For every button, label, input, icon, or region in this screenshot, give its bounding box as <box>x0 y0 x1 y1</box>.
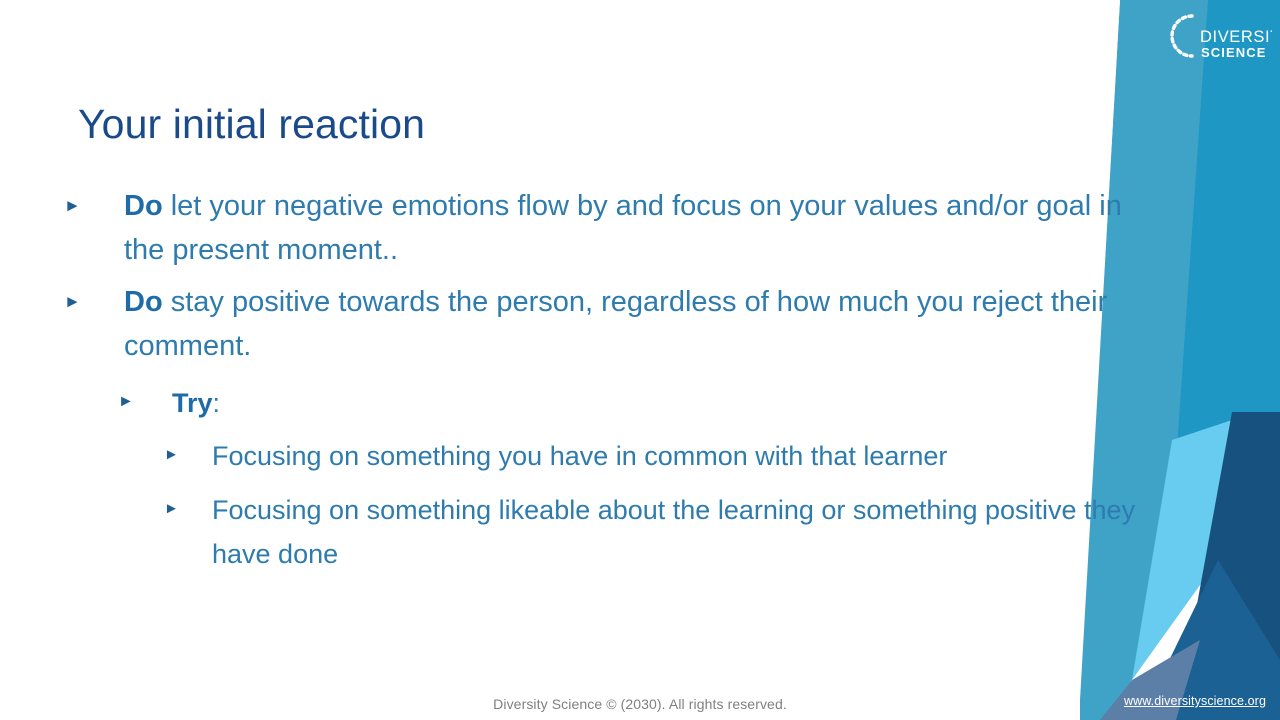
list-item-text: Do stay positive towards the person, reg… <box>124 280 1144 368</box>
logo-secondary-text: SCIENCE <box>1201 45 1267 60</box>
list-item-body: : <box>213 388 221 418</box>
list-item-body: Focusing on something you have in common… <box>212 441 947 471</box>
list-item-lead: Do <box>124 286 163 318</box>
decor-shape-blue <box>1172 0 1280 520</box>
footer-copyright: Diversity Science © (2030). All rights r… <box>0 696 1280 712</box>
list-item-lead: Do <box>124 190 163 222</box>
list-item-body: stay positive towards the person, regard… <box>124 286 1107 362</box>
bullet-arrow-icon: ► <box>64 488 212 516</box>
list-item: ► Try: <box>64 382 1144 424</box>
bullet-arrow-icon: ► <box>64 184 124 214</box>
list-item: ► Do stay positive towards the person, r… <box>64 280 1144 368</box>
list-item-text: Focusing on something likeable about the… <box>212 488 1144 576</box>
footer-website-link[interactable]: www.diversityscience.org <box>1124 694 1266 708</box>
list-item-body: Focusing on something likeable about the… <box>212 495 1135 569</box>
decor-shape-sky <box>1132 420 1232 680</box>
list-item-text: Do let your negative emotions flow by an… <box>124 184 1144 272</box>
bullet-list: ► Do let your negative emotions flow by … <box>64 184 1144 576</box>
list-item: ► Do let your negative emotions flow by … <box>64 184 1144 272</box>
list-item-lead: Try <box>172 388 213 418</box>
bullet-arrow-icon: ► <box>64 382 172 410</box>
list-item: ► Focusing on something likeable about t… <box>64 488 1144 576</box>
list-item-text: Focusing on something you have in common… <box>212 434 1144 478</box>
diversity-science-logo: DIVERSITY SCIENCE <box>1156 6 1272 70</box>
list-item-body: let your negative emotions flow by and f… <box>124 190 1122 266</box>
list-item-text: Try: <box>172 382 1144 424</box>
bullet-arrow-icon: ► <box>64 434 212 462</box>
logo-arc-icon <box>1172 16 1192 56</box>
logo-primary-text: DIVERSITY <box>1200 28 1272 46</box>
decor-shape-navy <box>1176 412 1280 720</box>
bullet-arrow-icon: ► <box>64 280 124 310</box>
page-title: Your initial reaction <box>78 95 425 153</box>
slide-canvas: DIVERSITY SCIENCE Your initial reaction … <box>0 0 1280 720</box>
list-item: ► Focusing on something you have in comm… <box>64 434 1144 478</box>
